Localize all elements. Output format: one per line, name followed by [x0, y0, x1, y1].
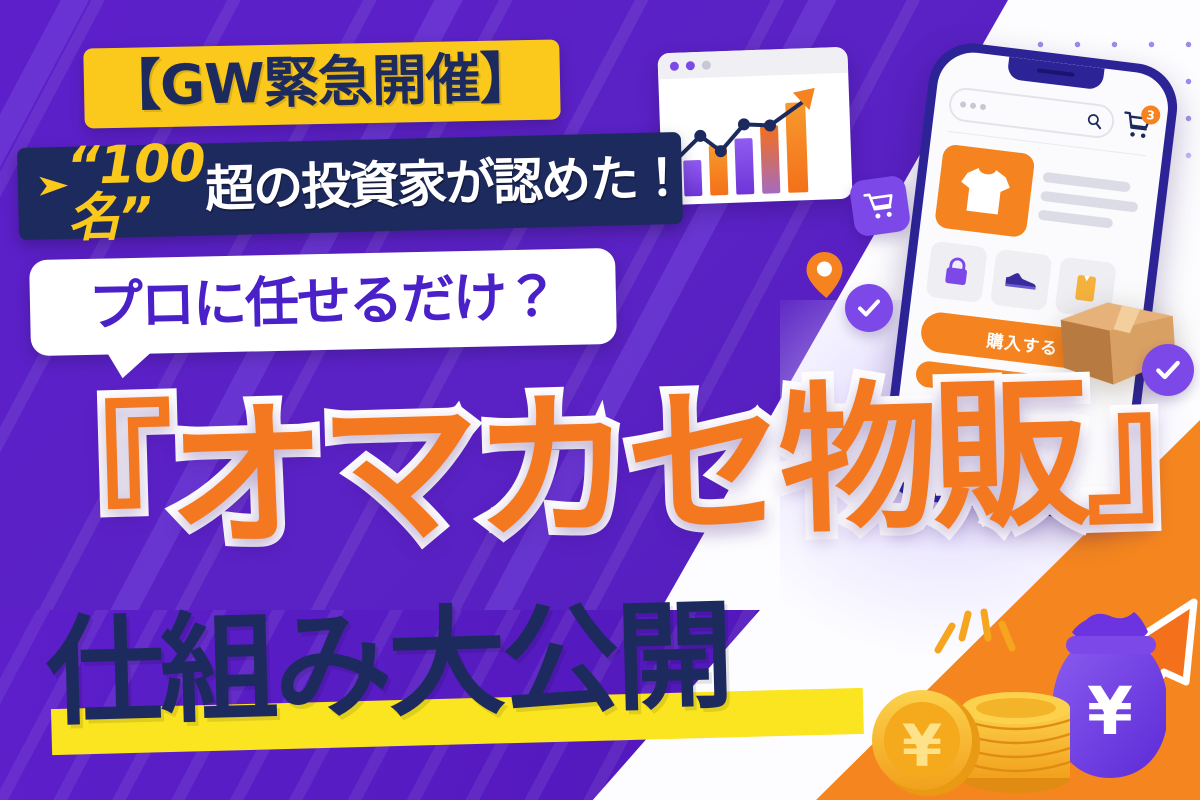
window-dot-2 — [686, 61, 695, 70]
location-pin — [803, 249, 847, 306]
growth-bar-chart — [658, 73, 852, 206]
check-circle-left — [845, 284, 893, 332]
sneaker-icon — [1003, 267, 1039, 293]
svg-text:¥: ¥ — [1087, 673, 1133, 750]
subline-label: 仕組み大公開 — [44, 581, 907, 743]
hero-product-tile[interactable] — [934, 144, 1036, 239]
tshirt-icon — [954, 162, 1016, 220]
chart-window — [657, 47, 852, 206]
phone-notch — [1007, 57, 1105, 91]
money-illustration: ¥ ¥ — [866, 592, 1166, 800]
gw-badge: 【GW緊急開催】 — [83, 39, 560, 128]
speech-bubble-label: プロに任せるだけ？ — [88, 270, 557, 334]
search-input[interactable] — [947, 86, 1116, 140]
chart-plot-area — [658, 73, 852, 206]
thumbnail-handbag[interactable] — [925, 241, 987, 303]
search-icon — [1085, 111, 1104, 130]
money-group: ¥ ¥ — [866, 592, 1166, 800]
check-circle-icon — [856, 295, 882, 321]
cart-square-badge — [848, 174, 911, 237]
search-placeholder-dots — [960, 101, 987, 110]
speech-bubble: プロに任せるだけ？ — [29, 248, 617, 356]
kicker-band: ➤ “100名” 超の投資家が認めた！ — [17, 132, 683, 240]
location-pin-icon — [803, 249, 846, 302]
subline: 仕組み大公開 — [44, 581, 908, 753]
product-text-lines — [1035, 156, 1146, 252]
product-hero — [934, 144, 1147, 252]
window-dot-1 — [670, 61, 679, 70]
phone-search-row: 3 — [947, 86, 1154, 145]
gw-badge-label: 【GW緊急開催】 — [105, 51, 534, 114]
arrow-icon: ➤ — [34, 167, 70, 203]
kicker-highlight: “100名” — [66, 138, 207, 245]
window-dot-3 — [702, 60, 711, 69]
headline: 『オマカセ物販』 — [11, 352, 1136, 593]
thumbnail-sneaker[interactable] — [990, 249, 1052, 311]
cart-button[interactable]: 3 — [1120, 109, 1153, 142]
headline-label: 『オマカセ物販』 — [11, 352, 1136, 583]
promo-banner: 3 — [0, 0, 1200, 800]
handbag-icon — [941, 255, 972, 288]
svg-text:¥: ¥ — [902, 712, 942, 780]
kicker-rest: 超の投資家が認めた！ — [205, 153, 686, 215]
cart-icon — [862, 188, 898, 224]
